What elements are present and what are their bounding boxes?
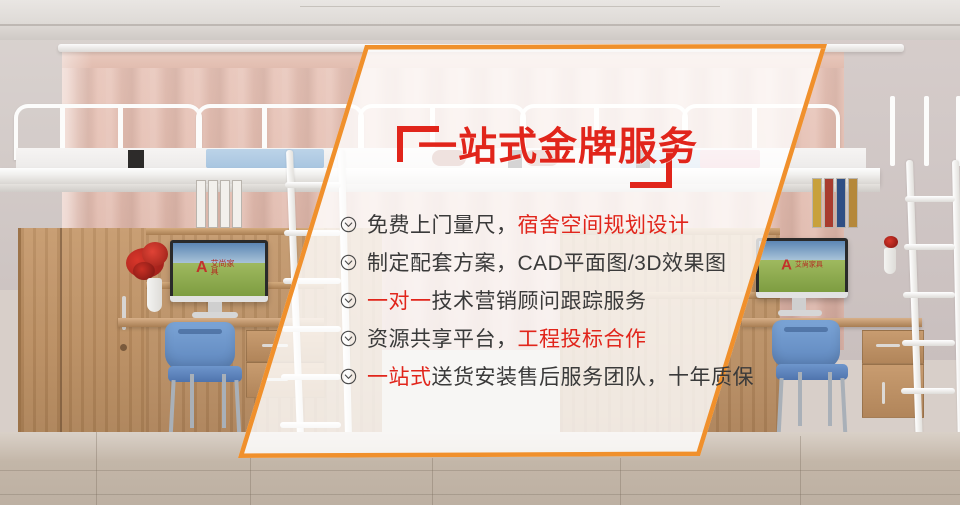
chevron-down-circle-icon — [340, 330, 357, 347]
list-item-label: 资源共享平台，工程投标合作 — [367, 323, 647, 353]
list-item-plain: 制定配套方案，CAD平面图/3D效果图 — [367, 252, 727, 275]
list-item-highlight: 一站式 — [367, 366, 432, 389]
list-item-plain: 资源共享平台， — [367, 328, 518, 351]
list-item-label: 制定配套方案，CAD平面图/3D效果图 — [367, 247, 727, 277]
feature-list: 免费上门量尺，宿舍空间规划设计 制定配套方案，CAD平面图/3D效果图 一对一技… — [340, 205, 754, 395]
chevron-down-circle-icon — [340, 216, 357, 233]
banner-content: 一站式金牌服务 免费上门量尺，宿舍空间规划设计 制定配套方案，CAD平面图/3D… — [0, 0, 960, 505]
list-item-label: 免费上门量尺，宿舍空间规划设计 — [367, 209, 690, 239]
list-item-highlight: 宿舍空间规划设计 — [518, 214, 690, 237]
list-item-plain-suffix: 技术营销顾问跟踪服务 — [432, 290, 647, 313]
list-item-label: 一对一技术营销顾问跟踪服务 — [367, 285, 647, 315]
list-item-plain-suffix: 送货安装售后服务团队，十年质保 — [432, 366, 755, 389]
list-item: 一对一技术营销顾问跟踪服务 — [340, 281, 754, 319]
promo-banner: A 艾尚家具 — [0, 0, 960, 505]
list-item-highlight: 工程投标合作 — [518, 328, 647, 351]
list-item: 免费上门量尺，宿舍空间规划设计 — [340, 205, 754, 243]
list-item: 制定配套方案，CAD平面图/3D效果图 — [340, 243, 754, 281]
chevron-down-circle-icon — [340, 292, 357, 309]
list-item-label: 一站式送货安装售后服务团队，十年质保 — [367, 361, 754, 391]
list-item: 资源共享平台，工程投标合作 — [340, 319, 754, 357]
list-item-highlight: 一对一 — [367, 290, 432, 313]
chevron-down-circle-icon — [340, 254, 357, 271]
list-item: 一站式送货安装售后服务团队，十年质保 — [340, 357, 754, 395]
page-title: 一站式金牌服务 — [418, 127, 698, 170]
chevron-down-circle-icon — [340, 368, 357, 385]
list-item-plain: 免费上门量尺， — [367, 214, 518, 237]
